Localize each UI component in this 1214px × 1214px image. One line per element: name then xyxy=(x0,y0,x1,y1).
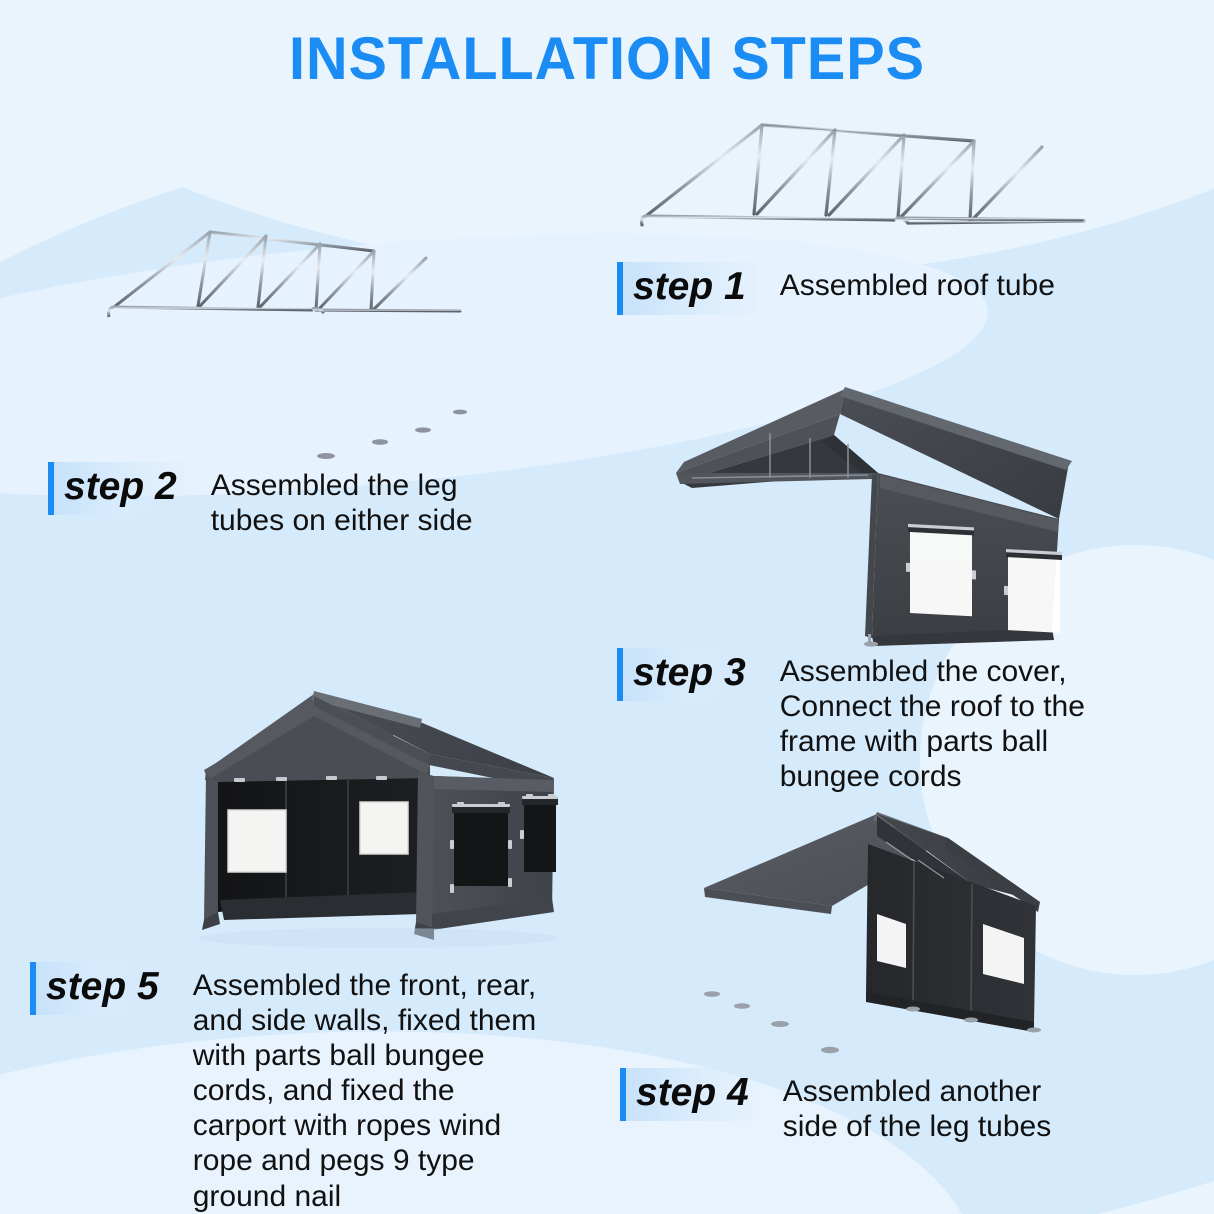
illustration-step-2 xyxy=(88,218,488,474)
step-label-5: step 5 xyxy=(46,965,159,1008)
step-description-2: Assembled the leg tubes on either side xyxy=(211,468,473,538)
step-description-4: Assembled another side of the leg tubes xyxy=(783,1074,1052,1144)
illustration-step-5 xyxy=(168,662,608,962)
step-block-5: step 5 Assembled the front, rear, and si… xyxy=(30,962,536,1214)
step-label-4: step 4 xyxy=(636,1071,749,1114)
step-block-2: step 2 Assembled the leg tubes on either… xyxy=(48,462,473,538)
step-tag-2: step 2 xyxy=(48,462,193,515)
infographic-page: INSTALLATION STEPS xyxy=(0,0,1214,1214)
illustration-step-1 xyxy=(622,108,1092,268)
illustration-step-3 xyxy=(662,378,1112,648)
page-title: INSTALLATION STEPS xyxy=(24,24,1189,93)
step-description-5: Assembled the front, rear, and side wall… xyxy=(193,968,537,1214)
step-tag-3: step 3 xyxy=(617,648,762,701)
step-block-4: step 4 Assembled another side of the leg… xyxy=(620,1068,1051,1144)
step-label-3: step 3 xyxy=(633,651,746,694)
step-tag-5: step 5 xyxy=(30,962,175,1015)
illustration-step-4 xyxy=(672,802,1112,1064)
step-label-2: step 2 xyxy=(64,465,177,508)
step-block-1: step 1 Assembled roof tube xyxy=(617,262,1055,315)
step-label-1: step 1 xyxy=(633,265,746,308)
step-description-3: Assembled the cover, Connect the roof to… xyxy=(780,654,1085,794)
step-description-1: Assembled roof tube xyxy=(780,268,1055,303)
step-tag-4: step 4 xyxy=(620,1068,765,1121)
step-block-3: step 3 Assembled the cover, Connect the … xyxy=(617,648,1085,794)
step-tag-1: step 1 xyxy=(617,262,762,315)
